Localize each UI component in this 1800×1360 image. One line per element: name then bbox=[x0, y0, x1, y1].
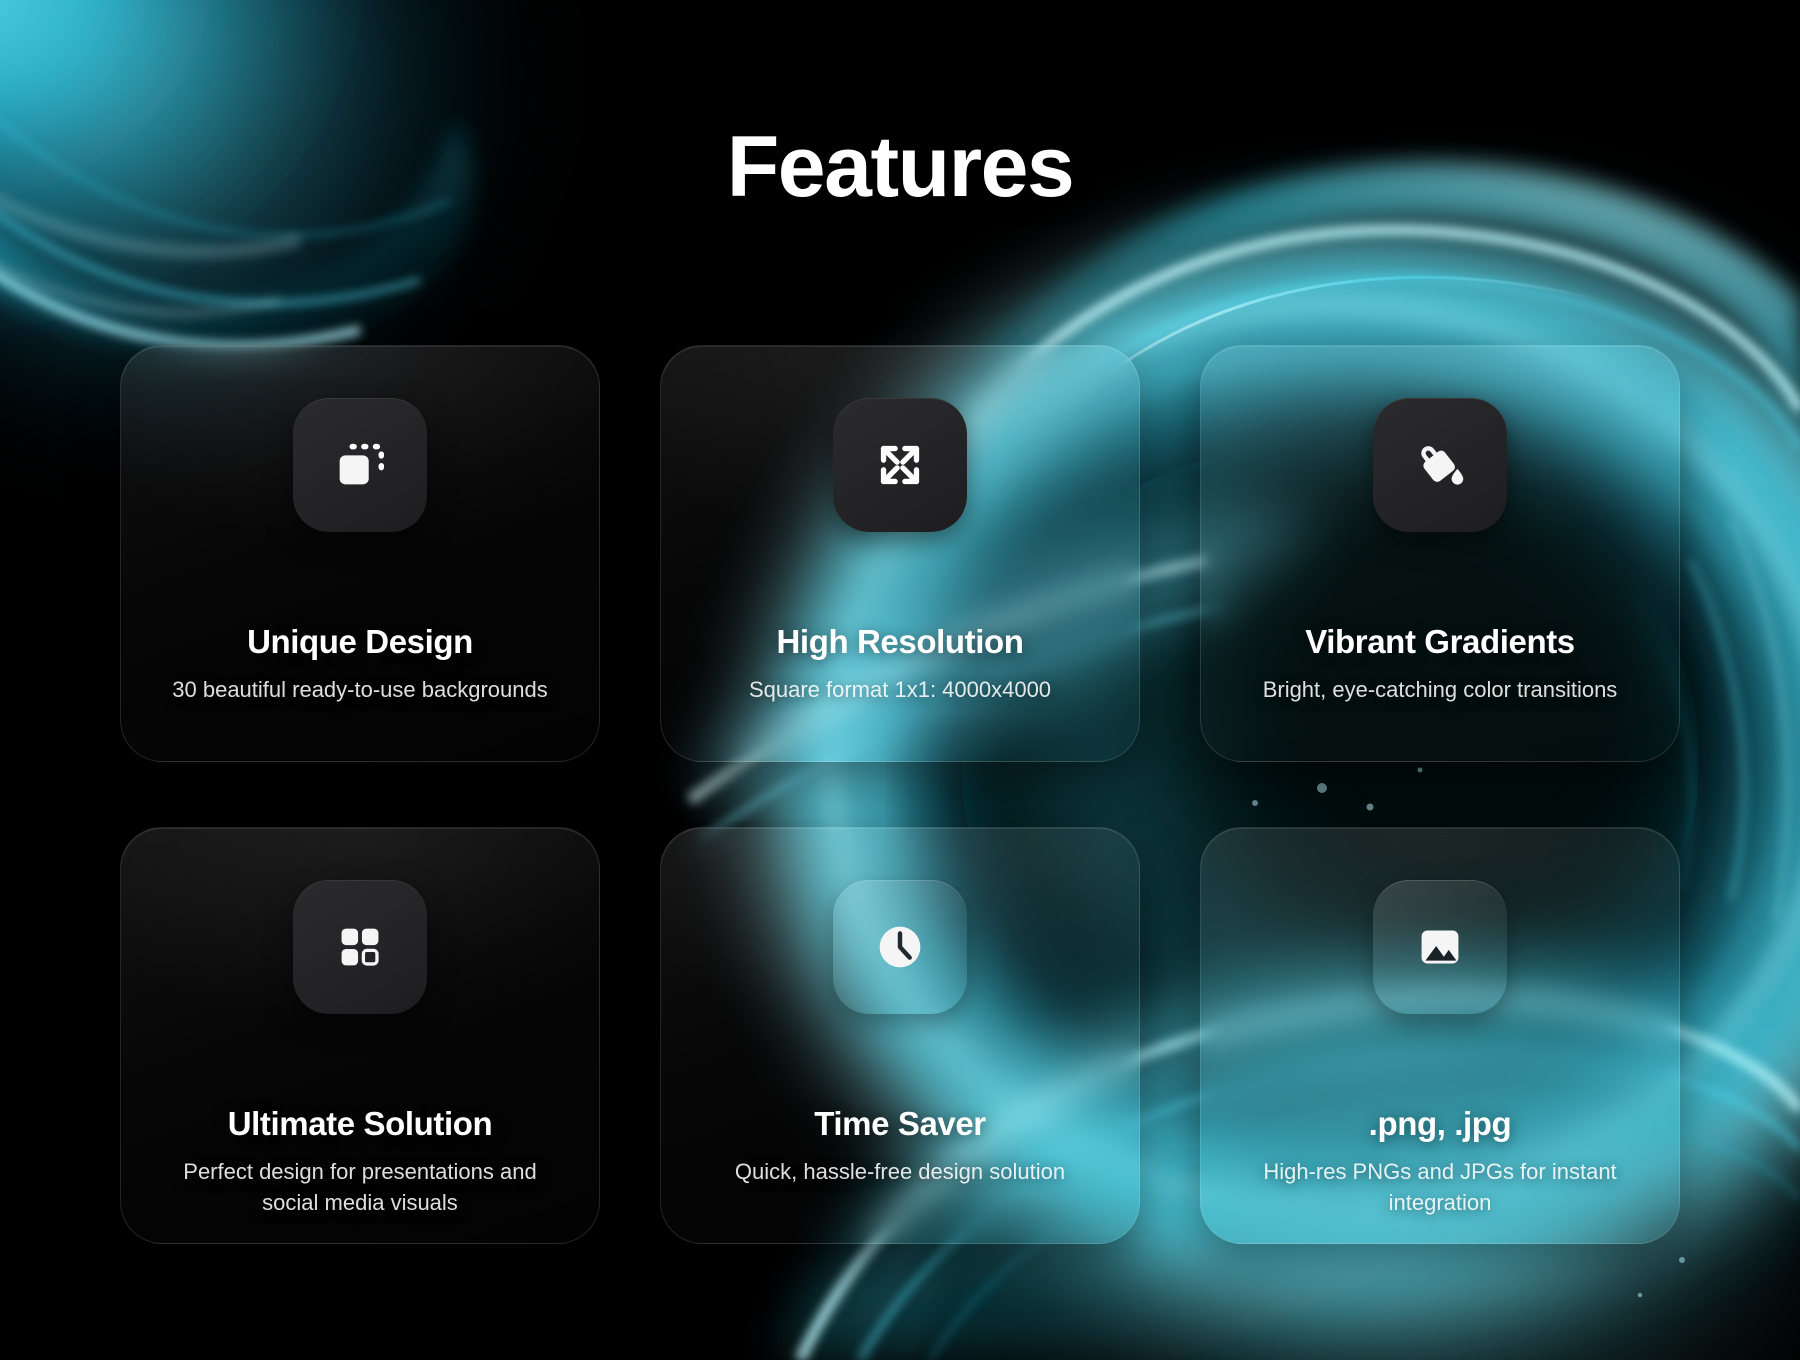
image-photo-icon bbox=[1409, 916, 1471, 978]
icon-tile bbox=[1373, 398, 1507, 532]
card-title: High Resolution bbox=[777, 624, 1024, 660]
feature-card-file-formats[interactable]: .png, .jpg High-res PNGs and JPGs for in… bbox=[1200, 827, 1680, 1244]
icon-tile bbox=[293, 880, 427, 1014]
page-title: Features bbox=[0, 118, 1800, 217]
card-title: Unique Design bbox=[247, 624, 473, 660]
card-description: Perfect design for presentations and soc… bbox=[160, 1157, 560, 1218]
feature-card-unique-design[interactable]: Unique Design 30 beautiful ready-to-use … bbox=[120, 345, 600, 762]
features-section: Features Unique Design 30 beautiful read… bbox=[0, 0, 1800, 1360]
icon-tile bbox=[833, 880, 967, 1014]
grid-squares-icon bbox=[329, 916, 391, 978]
clock-icon bbox=[869, 916, 931, 978]
feature-card-time-saver[interactable]: Time Saver Quick, hassle-free design sol… bbox=[660, 827, 1140, 1244]
card-title: Vibrant Gradients bbox=[1305, 624, 1575, 660]
paint-bucket-icon bbox=[1409, 434, 1471, 496]
card-title: .png, .jpg bbox=[1369, 1106, 1512, 1142]
features-grid: Unique Design 30 beautiful ready-to-use … bbox=[120, 345, 1680, 1244]
card-title: Time Saver bbox=[814, 1106, 986, 1142]
icon-tile bbox=[833, 398, 967, 532]
feature-card-ultimate-solution[interactable]: Ultimate Solution Perfect design for pre… bbox=[120, 827, 600, 1244]
feature-card-vibrant-gradients[interactable]: Vibrant Gradients Bright, eye-catching c… bbox=[1200, 345, 1680, 762]
icon-tile bbox=[1373, 880, 1507, 1014]
icon-tile bbox=[293, 398, 427, 532]
card-description: High-res PNGs and JPGs for instant integ… bbox=[1240, 1157, 1640, 1218]
expand-arrows-icon bbox=[869, 434, 931, 496]
feature-card-high-resolution[interactable]: High Resolution Square format 1x1: 4000x… bbox=[660, 345, 1140, 762]
card-description: Square format 1x1: 4000x4000 bbox=[749, 675, 1051, 705]
duplicate-icon bbox=[329, 434, 391, 496]
card-description: 30 beautiful ready-to-use backgrounds bbox=[172, 675, 547, 705]
card-description: Quick, hassle-free design solution bbox=[735, 1157, 1065, 1187]
card-title: Ultimate Solution bbox=[228, 1106, 493, 1142]
card-description: Bright, eye-catching color transitions bbox=[1263, 675, 1618, 705]
